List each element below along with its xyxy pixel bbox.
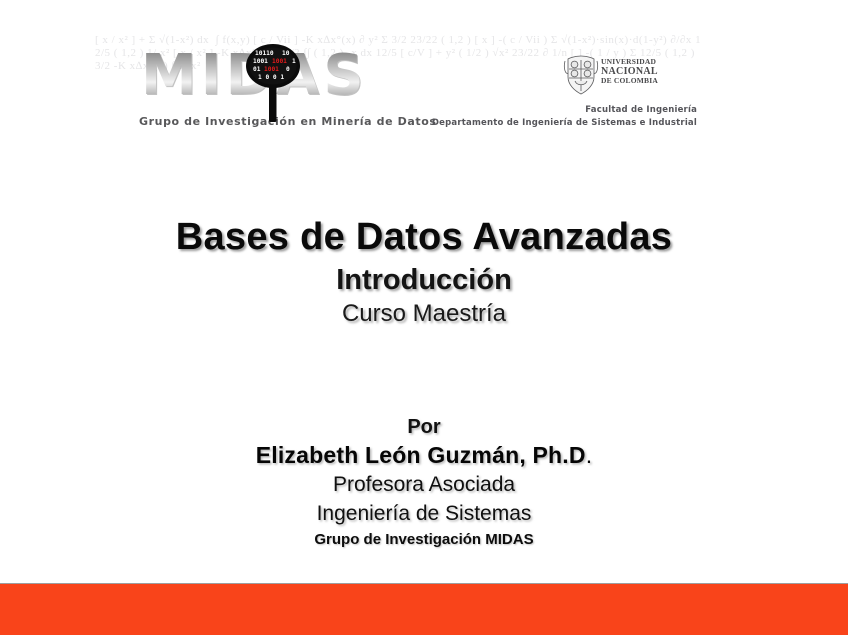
university-crest-icon [563, 53, 599, 97]
svg-text:1001: 1001 [253, 58, 268, 65]
svg-text:0: 0 [286, 66, 290, 73]
svg-text:01: 01 [253, 66, 261, 73]
svg-text:10: 10 [282, 50, 290, 57]
author-name-text: Elizabeth León Guzmán, Ph.D [256, 442, 586, 468]
author-role: Profesora Asociada [0, 470, 848, 499]
author-name-trailing-period: . [586, 442, 593, 468]
svg-text:10110: 10110 [255, 50, 274, 57]
author-name: Elizabeth León Guzmán, Ph.D. [0, 440, 848, 470]
subtitle: Introducción [0, 262, 848, 298]
university-name: UNIVERSIDAD NACIONAL DE COLOMBIA [601, 57, 699, 86]
presentation-slide: [ x / x² ] + Σ √(1-x²) dx ∫ f(x,y) [ c /… [0, 0, 848, 635]
course-label: Curso Maestría [0, 299, 848, 329]
faculty-label: Facultad de Ingeniería [585, 105, 697, 115]
footer-accent-band [0, 583, 848, 635]
midas-logo: MIDAS MIDAS 10110 10 1001 1001 1 01 1001… [141, 45, 441, 107]
page-title: Bases de Datos Avanzadas [0, 214, 848, 260]
svg-text:1001: 1001 [272, 58, 287, 65]
university-name-line3: DE COLOMBIA [601, 76, 699, 86]
department-label: Departamento de Ingeniería de Sistemas e… [432, 118, 697, 128]
author-block: Por Elizabeth León Guzmán, Ph.D. Profeso… [0, 414, 848, 550]
by-label: Por [0, 414, 848, 440]
magnifying-glass-icon: 10110 10 1001 1001 1 01 1001 0 1 0 0 1 [242, 42, 304, 126]
author-department: Ingeniería de Sistemas [0, 499, 848, 529]
svg-text:1: 1 [292, 58, 296, 65]
svg-text:1001: 1001 [264, 66, 279, 73]
university-name-line2: NACIONAL [601, 67, 699, 77]
title-block: Bases de Datos Avanzadas Introducción Cu… [0, 214, 848, 329]
author-research-group: Grupo de Investigación MIDAS [0, 530, 848, 550]
midas-header-banner: [ x / x² ] + Σ √(1-x²) dx ∫ f(x,y) [ c /… [93, 33, 707, 137]
svg-text:1 0 0 1: 1 0 0 1 [258, 74, 284, 81]
